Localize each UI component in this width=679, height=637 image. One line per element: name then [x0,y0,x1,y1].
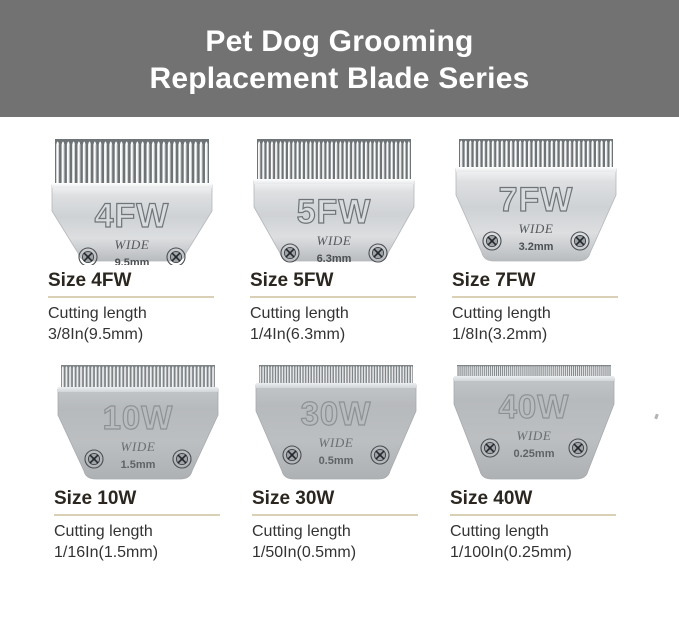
size-label-4fw: Size 4FW [48,269,234,292]
blade-illustration-40w: 40WWIDE0.25mm [446,359,622,483]
blade-illustration-7fw: 7FWWIDE3.2mm [448,133,624,265]
cutting-label-10w: Cutting length [54,521,240,542]
product-cell-5fw[interactable]: 5FWWIDE6.3mm Size 5FW Cutting length 1/4… [246,133,436,345]
engraved-mm-text: 6.3mm [317,253,352,265]
engraved-mm-text: 0.25mm [514,448,555,460]
blade-teeth [259,365,413,385]
spec-block-4fw: Size 4FW Cutting length 3/8In(9.5mm) [44,265,234,345]
product-row-bottom: 10WWIDE1.5mm Size 10W Cutting length 1/1… [10,345,669,563]
spec-divider [452,296,618,298]
comb-plate [58,387,218,392]
cutting-label-40w: Cutting length [450,521,636,542]
blade-teeth [61,365,215,389]
product-cell-7fw[interactable]: 7FWWIDE3.2mm Size 7FW Cutting length 1/8… [448,133,638,345]
cutting-value-7fw: 1/8In(3.2mm) [452,324,638,345]
page-title-line-2: Replacement Blade Series [150,60,530,97]
page-title-line-1: Pet Dog Grooming [205,23,473,60]
engraved-wide-text: WIDE [121,439,156,454]
engraved-size-text: 5FW [297,193,372,231]
engraved-wide-text: WIDE [317,233,352,248]
product-cell-40w[interactable]: 40WWIDE0.25mm Size 40W Cutting length 1/… [446,359,636,563]
size-label-7fw: Size 7FW [452,269,638,292]
cutting-label-30w: Cutting length [252,521,438,542]
comb-plate [52,183,212,188]
cutting-label-7fw: Cutting length [452,303,638,324]
spec-divider [252,514,418,516]
comb-plate [254,179,414,184]
comb-plate [454,376,614,381]
comb-plate [256,383,416,388]
engraved-size-text: 7FW [499,181,574,219]
product-grid: 4FWWIDE9.5mm Size 4FW Cutting length 3/8… [0,117,679,563]
engraved-wide-text: WIDE [519,221,554,236]
spec-divider [54,514,220,516]
engraved-mm-text: 3.2mm [519,241,554,253]
blade-teeth [257,139,411,181]
cutting-value-30w: 1/50In(0.5mm) [252,542,438,563]
cutting-value-40w: 1/100In(0.25mm) [450,542,636,563]
spec-block-5fw: Size 5FW Cutting length 1/4In(6.3mm) [246,265,436,345]
product-cell-30w[interactable]: 30WWIDE0.5mm Size 30W Cutting length 1/5… [248,359,438,563]
size-label-40w: Size 40W [450,487,636,510]
spec-divider [250,296,416,298]
engraved-mm-text: 9.5mm [115,257,150,265]
blade-image-4fw: 4FWWIDE9.5mm [44,133,220,265]
blade-image-5fw: 5FWWIDE6.3mm [246,133,422,265]
cutting-label-4fw: Cutting length [48,303,234,324]
cutting-value-5fw: 1/4In(6.3mm) [250,324,436,345]
engraved-size-text: 4FW [95,197,170,235]
cutting-value-4fw: 3/8In(9.5mm) [48,324,234,345]
engraved-mm-text: 0.5mm [319,455,354,467]
size-label-5fw: Size 5FW [250,269,436,292]
engraved-wide-text: WIDE [319,435,354,450]
cutting-value-10w: 1/16In(1.5mm) [54,542,240,563]
spec-block-10w: Size 10W Cutting length 1/16In(1.5mm) [50,483,240,563]
spec-divider [450,514,616,516]
blade-teeth [55,139,209,185]
cutting-label-5fw: Cutting length [250,303,436,324]
spec-block-30w: Size 30W Cutting length 1/50In(0.5mm) [248,483,438,563]
blade-image-40w: 40WWIDE0.25mm [446,359,622,483]
spec-block-40w: Size 40W Cutting length 1/100In(0.25mm) [446,483,636,563]
blade-image-30w: 30WWIDE0.5mm [248,359,424,483]
engraved-wide-text: WIDE [517,428,552,443]
size-label-30w: Size 30W [252,487,438,510]
spec-divider [48,296,214,298]
product-cell-4fw[interactable]: 4FWWIDE9.5mm Size 4FW Cutting length 3/8… [44,133,234,345]
header-banner: Pet Dog Grooming Replacement Blade Serie… [0,0,679,117]
blade-image-7fw: 7FWWIDE3.2mm [448,133,624,265]
comb-plate [456,167,616,172]
blade-teeth [459,139,613,169]
blade-image-10w: 10WWIDE1.5mm [50,359,226,483]
engraved-size-text: 30W [301,395,372,432]
engraved-size-text: 40W [499,388,570,425]
blade-illustration-5fw: 5FWWIDE6.3mm [246,133,422,265]
product-row-top: 4FWWIDE9.5mm Size 4FW Cutting length 3/8… [10,117,669,345]
product-cell-10w[interactable]: 10WWIDE1.5mm Size 10W Cutting length 1/1… [50,359,240,563]
size-label-10w: Size 10W [54,487,240,510]
engraved-wide-text: WIDE [115,237,150,252]
spec-block-7fw: Size 7FW Cutting length 1/8In(3.2mm) [448,265,638,345]
engraved-mm-text: 1.5mm [121,459,156,471]
blade-illustration-30w: 30WWIDE0.5mm [248,359,424,483]
blade-illustration-10w: 10WWIDE1.5mm [50,359,226,483]
engraved-size-text: 10W [103,399,174,436]
blade-illustration-4fw: 4FWWIDE9.5mm [44,133,220,265]
